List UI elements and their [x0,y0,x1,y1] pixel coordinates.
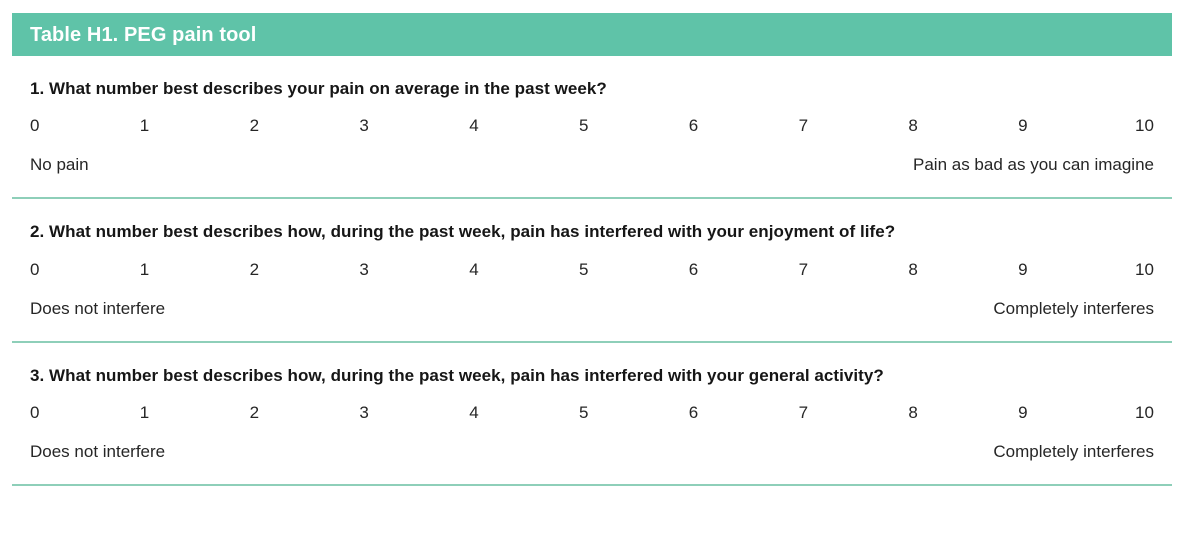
scale-tick-2[interactable]: 2 [250,404,360,421]
table-body: 1. What number best describes your pain … [12,56,1172,486]
question-1-anchor-left: No pain [30,156,89,173]
question-block-1: 1. What number best describes your pain … [12,56,1172,197]
scale-tick-7[interactable]: 7 [799,404,909,421]
question-3-scale: 0 1 2 3 4 5 6 7 8 9 10 [12,386,1172,421]
scale-tick-2[interactable]: 2 [250,117,360,134]
scale-tick-2[interactable]: 2 [250,261,360,278]
question-1-anchor-right: Pain as bad as you can imagine [913,156,1154,173]
scale-tick-4[interactable]: 4 [469,404,579,421]
scale-tick-4[interactable]: 4 [469,261,579,278]
scale-tick-8[interactable]: 8 [908,261,1018,278]
scale-tick-7[interactable]: 7 [799,117,909,134]
table-header: Table H1. PEG pain tool [12,13,1172,56]
scale-tick-8[interactable]: 8 [908,117,1018,134]
scale-tick-8[interactable]: 8 [908,404,1018,421]
question-3-anchors: Does not interfere Completely interferes [12,421,1172,484]
scale-tick-1[interactable]: 1 [140,404,250,421]
question-1-anchors: No pain Pain as bad as you can imagine [12,134,1172,197]
scale-tick-9[interactable]: 9 [1018,261,1128,278]
scale-tick-7[interactable]: 7 [799,261,909,278]
scale-tick-1[interactable]: 1 [140,261,250,278]
question-2-text: 2. What number best describes how, durin… [12,199,1172,242]
scale-tick-0[interactable]: 0 [30,117,140,134]
scale-tick-6[interactable]: 6 [689,261,799,278]
scale-tick-4[interactable]: 4 [469,117,579,134]
scale-tick-9[interactable]: 9 [1018,404,1128,421]
question-block-2: 2. What number best describes how, durin… [12,197,1172,340]
scale-tick-6[interactable]: 6 [689,404,799,421]
question-2-anchor-left: Does not interfere [30,300,165,317]
scale-tick-5[interactable]: 5 [579,261,689,278]
scale-tick-1[interactable]: 1 [140,117,250,134]
scale-tick-10[interactable]: 10 [1128,261,1154,278]
question-1-scale: 0 1 2 3 4 5 6 7 8 9 10 [12,99,1172,134]
question-2-scale: 0 1 2 3 4 5 6 7 8 9 10 [12,243,1172,278]
scale-tick-10[interactable]: 10 [1128,404,1154,421]
question-3-anchor-left: Does not interfere [30,443,165,460]
scale-tick-3[interactable]: 3 [359,117,469,134]
scale-tick-9[interactable]: 9 [1018,117,1128,134]
scale-tick-3[interactable]: 3 [359,404,469,421]
question-3-anchor-right: Completely interferes [993,443,1154,460]
scale-tick-0[interactable]: 0 [30,261,140,278]
question-1-text: 1. What number best describes your pain … [12,56,1172,99]
question-2-anchors: Does not interfere Completely interferes [12,278,1172,341]
scale-tick-6[interactable]: 6 [689,117,799,134]
scale-tick-5[interactable]: 5 [579,404,689,421]
table-title: Table H1. PEG pain tool [30,25,256,45]
scale-tick-3[interactable]: 3 [359,261,469,278]
scale-tick-5[interactable]: 5 [579,117,689,134]
question-block-3: 3. What number best describes how, durin… [12,341,1172,484]
peg-pain-tool-table: Table H1. PEG pain tool 1. What number b… [12,13,1172,486]
scale-tick-0[interactable]: 0 [30,404,140,421]
scale-tick-10[interactable]: 10 [1128,117,1154,134]
question-3-text: 3. What number best describes how, durin… [12,343,1172,386]
question-2-anchor-right: Completely interferes [993,300,1154,317]
